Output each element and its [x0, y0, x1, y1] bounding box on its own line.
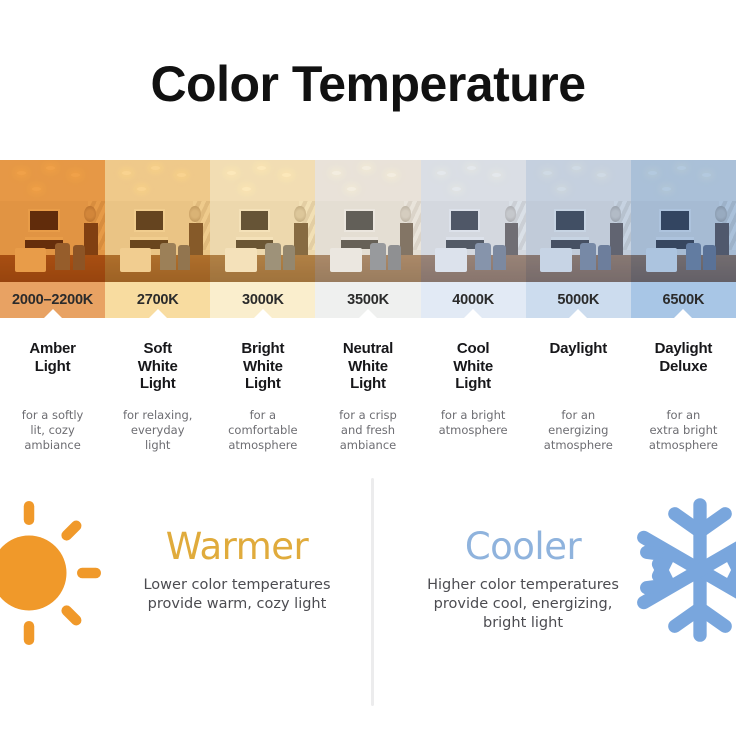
light-name: DaylightDeluxe: [637, 340, 730, 396]
light-description: for relaxing,everydaylight: [111, 408, 204, 454]
temperature-segment[interactable]: 3500K: [315, 282, 420, 318]
room-photo: [631, 160, 736, 282]
warmer-description: Lower color temperaturesprovide warm, co…: [108, 576, 366, 614]
warmer-block: Warmer Lower color temperaturesprovide w…: [108, 528, 366, 614]
temperature-info-column: Daylightfor anenergizingatmosphere: [526, 340, 631, 454]
temperature-info-column: CoolWhiteLightfor a brightatmosphere: [421, 340, 526, 454]
page-title: Color Temperature: [0, 55, 736, 113]
light-description: for acomfortableatmosphere: [216, 408, 309, 454]
temperature-info-column: AmberLightfor a softlylit, cozyambiance: [0, 340, 105, 454]
segment-notch: [254, 309, 272, 318]
room-photo: [0, 160, 105, 282]
light-name: Daylight: [532, 340, 625, 396]
room-photo: [105, 160, 210, 282]
segment-notch: [359, 309, 377, 318]
light-name: AmberLight: [6, 340, 99, 396]
cooler-description: Higher color temperaturesprovide cool, e…: [392, 576, 654, 633]
temperature-info-column: SoftWhiteLightfor relaxing,everydaylight: [105, 340, 210, 454]
temperature-segment[interactable]: 4000K: [421, 282, 526, 318]
temperature-label: 2000–2200K: [12, 292, 93, 308]
temperature-info-column: NeutralWhiteLightfor a crispand freshamb…: [315, 340, 420, 454]
room-photo: [421, 160, 526, 282]
room-photo: [210, 160, 315, 282]
segment-notch: [464, 309, 482, 318]
light-name: SoftWhiteLight: [111, 340, 204, 396]
cooler-heading: Cooler: [392, 528, 654, 567]
light-description: for a softlylit, cozyambiance: [6, 408, 99, 454]
light-description: for a crispand freshambiance: [321, 408, 414, 454]
segment-notch: [674, 309, 692, 318]
light-description: for anextra brightatmosphere: [637, 408, 730, 454]
light-name: CoolWhiteLight: [427, 340, 520, 396]
temperature-segment[interactable]: 5000K: [526, 282, 631, 318]
temperature-label: 3000K: [242, 292, 284, 308]
temperature-info-column: DaylightDeluxefor anextra brightatmosphe…: [631, 340, 736, 454]
light-description: for a brightatmosphere: [427, 408, 520, 438]
temperature-segment[interactable]: 2700K: [105, 282, 210, 318]
cooler-block: Cooler Higher color temperaturesprovide …: [392, 528, 654, 632]
temperature-color-band: 2000–2200K2700K3000K3500K4000K5000K6500K: [0, 282, 736, 318]
temperature-label: 6500K: [663, 292, 705, 308]
temperature-label: 3500K: [347, 292, 389, 308]
temperature-info-column: BrightWhiteLightfor acomfortableatmosphe…: [210, 340, 315, 454]
temperature-info-row: AmberLightfor a softlylit, cozyambianceS…: [0, 340, 736, 454]
segment-notch: [44, 309, 62, 318]
warm-cool-divider: [371, 478, 374, 706]
light-name: NeutralWhiteLight: [321, 340, 414, 396]
infographic-page: Color Temperature 2000–2200K2700K3000K35…: [0, 0, 736, 736]
sun-icon: [0, 498, 104, 648]
temperature-label: 2700K: [137, 292, 179, 308]
segment-notch: [149, 309, 167, 318]
segment-notch: [569, 309, 587, 318]
temperature-segment[interactable]: 3000K: [210, 282, 315, 318]
room-photo: [526, 160, 631, 282]
room-photo: [315, 160, 420, 282]
light-description: for anenergizingatmosphere: [532, 408, 625, 454]
temperature-label: 4000K: [452, 292, 494, 308]
temperature-segment[interactable]: 6500K: [631, 282, 736, 318]
warmer-heading: Warmer: [108, 528, 366, 567]
room-photo-strip: [0, 160, 736, 282]
temperature-label: 5000K: [557, 292, 599, 308]
temperature-segment[interactable]: 2000–2200K: [0, 282, 105, 318]
light-name: BrightWhiteLight: [216, 340, 309, 396]
